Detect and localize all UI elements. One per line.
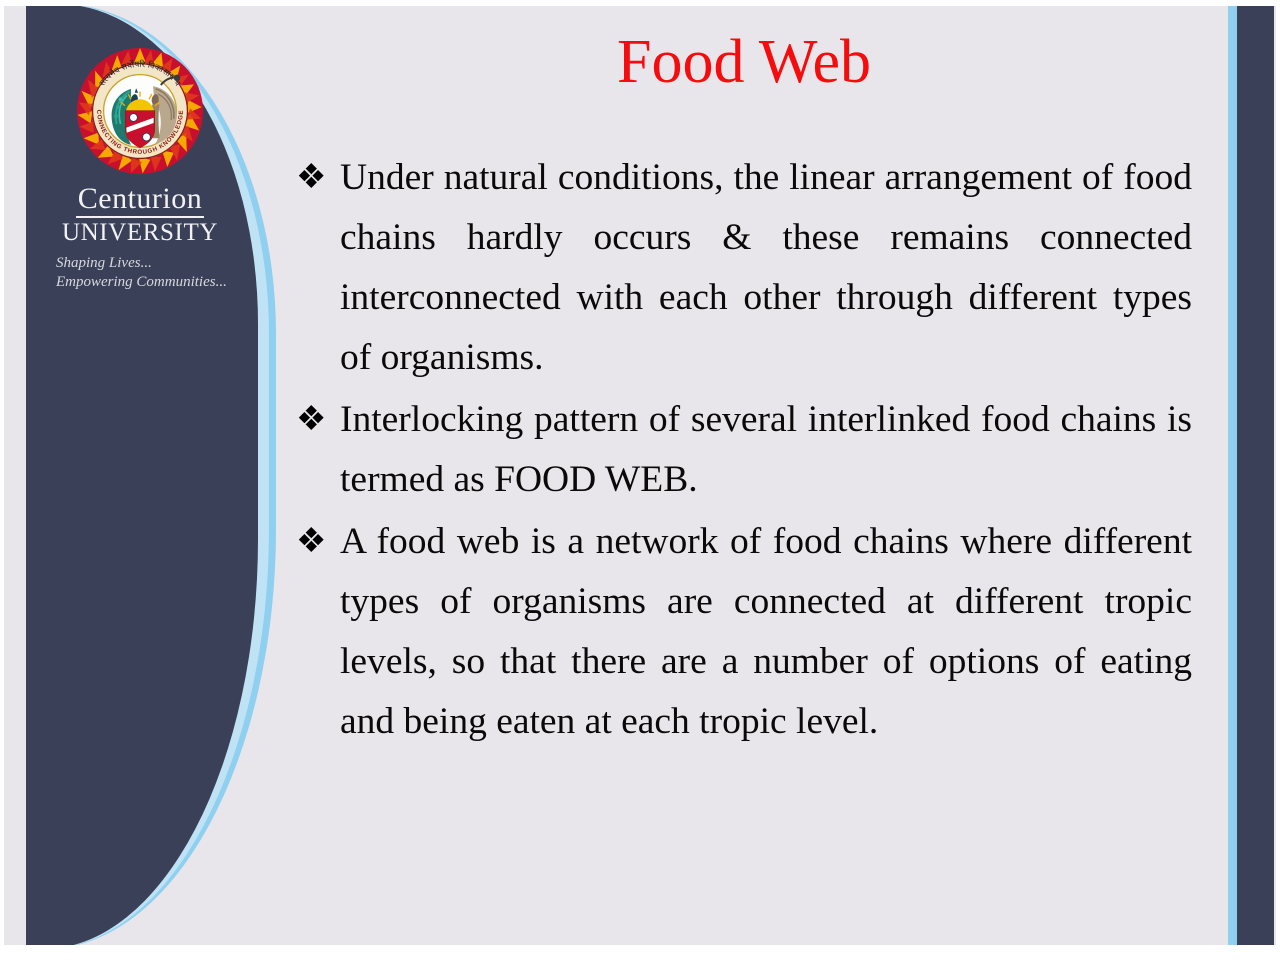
tagline-line-1: Shaping Lives...	[56, 254, 230, 273]
university-subname: UNIVERSITY	[50, 220, 230, 246]
bullet-marker-icon: ❖	[296, 512, 336, 572]
bullet-text-3: A food web is a network of food chains w…	[340, 521, 1192, 742]
bullet-item-1: ❖ Under natural conditions, the linear a…	[296, 148, 1192, 388]
slide-body: ❖ Under natural conditions, the linear a…	[296, 148, 1192, 754]
bullet-text-2: Interlocking pattern of several interlin…	[340, 399, 1192, 500]
centurion-university-crest-icon: सत्यमेव सर्वोपरि विकासाय च CONNECTING TH…	[75, 46, 205, 176]
university-branding: सत्यमेव सर्वोपरि विकासाय च CONNECTING TH…	[50, 46, 230, 291]
tagline-line-2: Empowering Communities...	[56, 273, 230, 292]
bullet-text-1: Under natural conditions, the linear arr…	[340, 157, 1192, 378]
bullet-marker-icon: ❖	[296, 390, 336, 450]
university-tagline: Shaping Lives... Empowering Communities.…	[50, 254, 230, 292]
bullet-item-3: ❖ A food web is a network of food chains…	[296, 512, 1192, 752]
slide-canvas: सत्यमेव सर्वोपरि विकासाय च CONNECTING TH…	[4, 6, 1276, 945]
university-name: Centurion	[50, 184, 230, 218]
slide: सत्यमेव सर्वोपरि विकासाय च CONNECTING TH…	[0, 0, 1280, 960]
right-border-navy-bar	[1237, 6, 1274, 945]
bullet-marker-icon: ❖	[296, 148, 336, 208]
bullet-item-2: ❖ Interlocking pattern of several interl…	[296, 390, 1192, 510]
right-border-blue-stripe	[1228, 6, 1237, 945]
slide-title: Food Web	[294, 30, 1194, 95]
